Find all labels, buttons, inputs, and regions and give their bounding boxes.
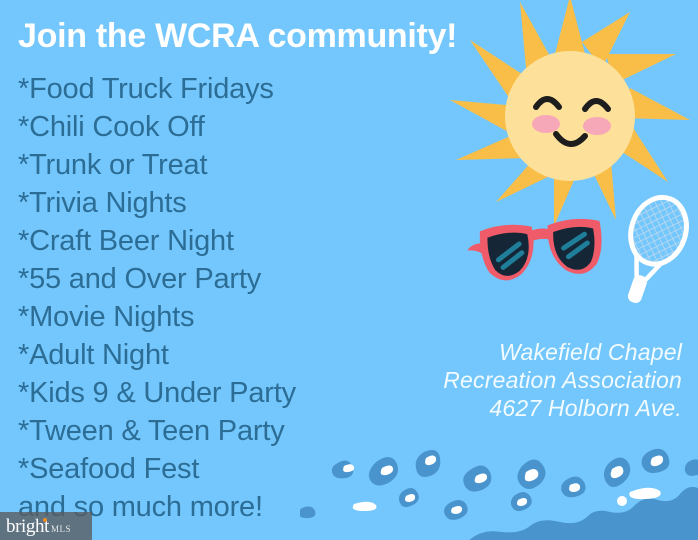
list-item: *Trivia Nights xyxy=(18,184,348,222)
list-item: *Chili Cook Off xyxy=(18,108,348,146)
splash-highlights xyxy=(343,456,663,515)
list-item: *Food Truck Fridays xyxy=(18,70,348,108)
sun-eye-left xyxy=(536,99,559,107)
sunglasses-lens-right-frame xyxy=(547,217,605,277)
sunglasses-glint-left xyxy=(497,244,523,268)
list-item: *Movie Nights xyxy=(18,298,348,336)
list-item: *Tween & Teen Party xyxy=(18,412,348,450)
racket-handle xyxy=(626,274,648,305)
address-line-3: 4627 Holborn Ave. xyxy=(443,394,682,422)
water-splash-illustration xyxy=(300,448,698,540)
address-line-1: Wakefield Chapel xyxy=(443,338,682,366)
sunglasses-illustration xyxy=(462,198,622,313)
sun-illustration xyxy=(450,0,690,231)
bright-mls-watermark: bright MLS xyxy=(0,512,92,540)
splash-wave-body xyxy=(300,487,698,540)
splash-droplets xyxy=(300,449,698,520)
sunglasses-lens-right-glass xyxy=(552,225,597,271)
watermark-dot-icon xyxy=(43,518,47,522)
list-item: *Craft Beer Night xyxy=(18,222,348,260)
sun-blush-left xyxy=(532,115,560,133)
sun-eye-right xyxy=(585,101,608,109)
sun-svg xyxy=(450,0,690,226)
page-title: Join the WCRA community! xyxy=(18,16,457,56)
racket-svg xyxy=(596,192,698,307)
listing-photo-poster: Join the WCRA community! *Food Truck Fri… xyxy=(0,0,698,540)
racket-throat xyxy=(630,255,661,282)
racket-head xyxy=(622,192,695,272)
address-line-2: Recreation Association xyxy=(443,366,682,394)
tennis-racket-illustration xyxy=(596,192,698,312)
sunglasses-lens-left-glass xyxy=(487,231,532,277)
sun-face xyxy=(505,51,635,181)
sun-blush-right xyxy=(583,117,611,135)
watermark-brand: bright xyxy=(6,517,49,536)
sun-rays xyxy=(450,0,690,226)
sunglasses-svg xyxy=(462,198,622,308)
list-item: *Seafood Fest xyxy=(18,450,348,488)
organization-address: Wakefield Chapel Recreation Association … xyxy=(443,338,682,422)
list-item: *Trunk or Treat xyxy=(18,146,348,184)
watermark-suffix: MLS xyxy=(51,524,71,534)
list-item: *Kids 9 & Under Party xyxy=(18,374,348,412)
sunglasses-glint-right xyxy=(563,234,589,257)
sunglasses-temple-left xyxy=(467,243,482,254)
sunglasses-bridge xyxy=(526,227,555,243)
sunglasses-lens-left-frame xyxy=(479,223,537,283)
racket-string-bed xyxy=(622,192,695,272)
list-item: *Adult Night xyxy=(18,336,348,374)
list-item: *55 and Over Party xyxy=(18,260,348,298)
splash-svg xyxy=(300,448,698,540)
sun-smile xyxy=(556,134,585,144)
event-list: *Food Truck Fridays *Chili Cook Off *Tru… xyxy=(18,70,348,526)
